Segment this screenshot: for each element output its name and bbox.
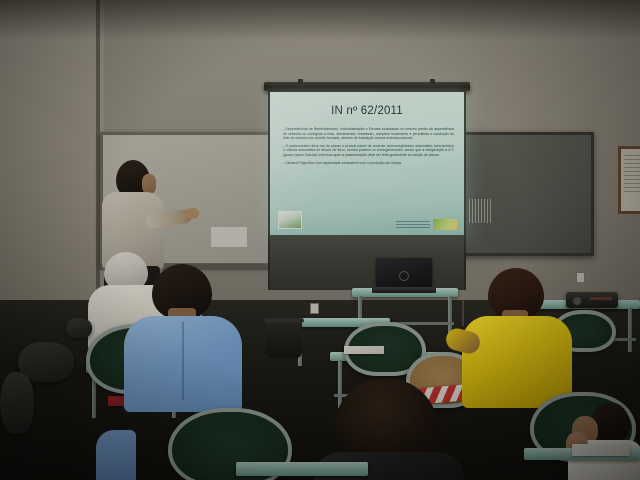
paper-note xyxy=(211,227,247,247)
attendee-head xyxy=(334,378,438,462)
ceiling-shadow xyxy=(0,0,640,40)
slide-bullet-1: - Dependências de Beneficiamento, Indust… xyxy=(283,127,454,141)
classroom-photo: IN nº 62/2011 - Dependências de Benefici… xyxy=(0,0,640,480)
desk-top xyxy=(236,462,368,476)
slide-bullet-3: - Câmara Frigorífica com capacidade comp… xyxy=(283,161,454,166)
slide-logo-left-icon xyxy=(278,211,302,229)
roller-bracket xyxy=(430,79,435,84)
attendee-torso xyxy=(96,430,136,480)
board-marks xyxy=(469,199,491,223)
presenter-hand xyxy=(186,208,199,219)
backpack-on-floor xyxy=(0,372,34,434)
roller-bracket xyxy=(298,79,303,84)
slide-bullet-2: - O pasteurizador deve ser de placas e p… xyxy=(283,144,454,158)
trash-bin xyxy=(266,318,302,358)
attendee-left-edge xyxy=(96,430,138,480)
certificate-text xyxy=(624,155,640,195)
slide-title: IN nº 62/2011 xyxy=(270,105,464,117)
notebook xyxy=(572,444,630,456)
wall-outlet xyxy=(310,303,319,314)
framed-certificate xyxy=(618,146,640,214)
papers-on-desk xyxy=(344,346,384,354)
laptop-base xyxy=(372,287,436,293)
whiteboard-right xyxy=(458,132,594,256)
hp-laptop[interactable] xyxy=(372,258,434,292)
presenter-face xyxy=(142,174,156,194)
slide-body: - Dependências de Beneficiamento, Indust… xyxy=(283,127,454,168)
slide-footer-text xyxy=(396,221,430,230)
trash-rim xyxy=(264,318,304,323)
projector-marking xyxy=(590,297,612,300)
backpack-on-floor xyxy=(66,318,92,338)
slide-logo-right-icon xyxy=(433,219,457,230)
desk-leg xyxy=(448,296,452,334)
desk-leg xyxy=(628,308,632,352)
screen-lower-panel xyxy=(270,235,464,290)
laptop-logo-icon xyxy=(399,271,409,281)
projected-slide: IN nº 62/2011 - Dependências de Benefici… xyxy=(270,92,464,235)
attendee-blue-shirt xyxy=(124,264,248,424)
shirt-seam xyxy=(182,322,184,400)
desk xyxy=(236,462,368,480)
